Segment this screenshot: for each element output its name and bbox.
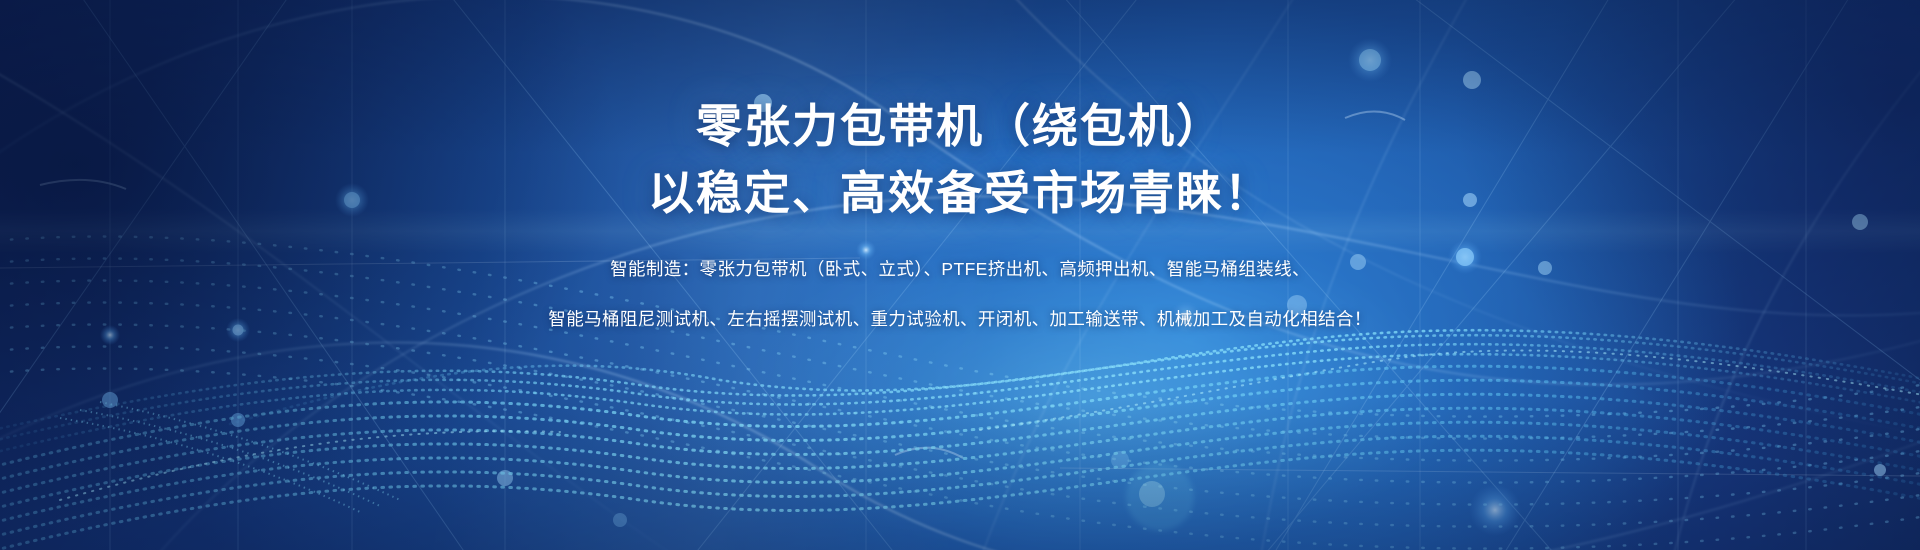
headline-line-2: 以稳定、高效备受市场青睐！ (648, 163, 1272, 224)
subtitle-line-2: 智能马桶阻尼测试机、左右摇摆测试机、重力试验机、开闭机、加工输送带、机械加工及自… (548, 307, 1371, 332)
hero-banner: 零张力包带机（绕包机） 以稳定、高效备受市场青睐！ 智能制造：零张力包带机（卧式… (0, 0, 1920, 550)
headline-line-1: 零张力包带机（绕包机） (696, 96, 1224, 157)
banner-content: 零张力包带机（绕包机） 以稳定、高效备受市场青睐！ 智能制造：零张力包带机（卧式… (0, 0, 1920, 550)
subtitle-line-1: 智能制造：零张力包带机（卧式、立式）、PTFE挤出机、高频押出机、智能马桶组装线… (610, 257, 1310, 282)
